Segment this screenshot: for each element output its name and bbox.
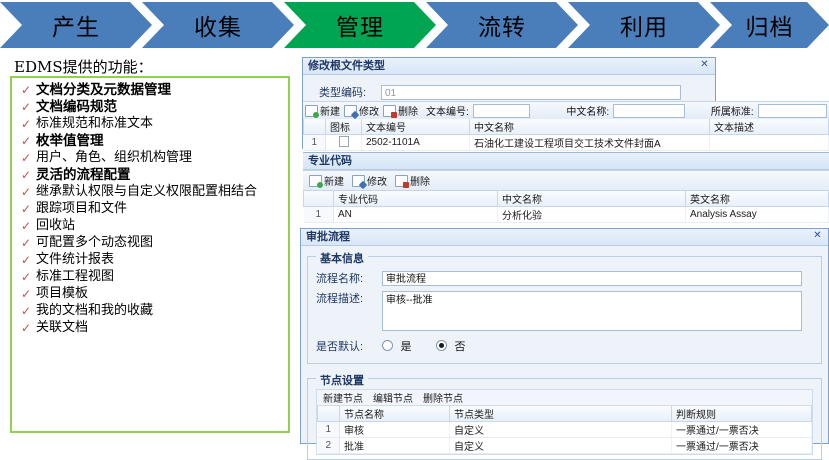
edit-icon xyxy=(352,175,365,187)
process-step-label: 管理 xyxy=(336,8,384,42)
edit-button-label: 修改 xyxy=(359,103,379,118)
check-icon: ✓ xyxy=(16,320,36,336)
section-title: 专业代码 xyxy=(303,152,829,170)
edit-icon xyxy=(344,105,357,117)
process-step-label: 流转 xyxy=(478,8,526,42)
screenshot-root: 产生 收集 管理 流转 利用 归档 EDMS提供的功能： ✓文档分类及元数据管理… xyxy=(0,0,829,444)
list-item-label: 文档编码规范 xyxy=(36,99,117,115)
process-step-shouji[interactable]: 收集 xyxy=(142,2,294,48)
close-icon[interactable]: ✕ xyxy=(811,230,824,242)
table-row[interactable]: 1 审核 自定义 一票通过/一票否决 xyxy=(318,422,812,438)
row-node-name: 审核 xyxy=(340,422,450,438)
process-step-guidang[interactable]: 归档 xyxy=(710,2,829,48)
window-title-bar[interactable]: 审批流程 ✕ xyxy=(301,229,828,246)
list-item: ✓回收站 xyxy=(16,218,286,234)
check-icon: ✓ xyxy=(16,218,36,234)
delete-button[interactable]: 删除 xyxy=(395,173,430,188)
close-icon[interactable]: ✕ xyxy=(698,59,711,71)
process-step-label: 利用 xyxy=(620,8,668,42)
flow-name-row: 流程名称: 审批流程 xyxy=(316,269,813,287)
col-major-code[interactable]: 专业代码 xyxy=(334,191,498,207)
radio-option-no[interactable]: 否 xyxy=(436,337,465,355)
new-button-label: 新建 xyxy=(320,103,340,118)
check-icon: ✓ xyxy=(16,252,36,268)
row-code: 2502-1101A xyxy=(362,135,470,151)
process-step-liyong[interactable]: 利用 xyxy=(568,2,720,48)
type-code-input[interactable]: 01 xyxy=(381,85,681,100)
node-grid-panel: 新建节点 编辑节点 删除节点 节点名称 节点类型 判断规则 xyxy=(316,389,813,455)
filter-name-label: 中文名称: xyxy=(566,103,609,118)
col-node-name[interactable]: 节点名称 xyxy=(340,406,450,422)
table-header-row: 专业代码 中文名称 英文名称 xyxy=(304,191,829,207)
process-chevron-bar: 产生 收集 管理 流转 利用 归档 xyxy=(0,2,829,48)
process-step-label: 收集 xyxy=(194,8,242,42)
type-code-row: 类型编码: 01 xyxy=(319,83,709,101)
new-node-button[interactable]: 新建节点 xyxy=(323,390,363,405)
list-item: ✓项目模板 xyxy=(16,286,286,302)
list-item-label: 我的文档和我的收藏 xyxy=(36,303,153,319)
file-type-toolbar: 新建 修改 删除 文本编号: 中文名称: 所属标准: xyxy=(303,101,829,120)
table-row[interactable]: 1 AN 分析化验 Analysis Assay xyxy=(304,207,829,223)
list-item: ✓枚举值管理 xyxy=(16,133,286,149)
process-step-liuzhuan[interactable]: 流转 xyxy=(426,2,578,48)
radio-icon-yes xyxy=(382,340,393,351)
list-item-label: 回收站 xyxy=(36,218,75,234)
row-node-rule: 一票通过/一票否决 xyxy=(672,438,812,454)
group-node-settings: 节点设置 新建节点 编辑节点 删除节点 节点名称 节点类型 判断规则 xyxy=(307,378,822,460)
check-icon: ✓ xyxy=(16,99,36,115)
row-major-code: AN xyxy=(334,207,498,223)
list-item-label: 可配置多个动态视图 xyxy=(36,235,153,251)
major-code-grid: 专业代码 中文名称 英文名称 1 AN 分析化验 Analysis Assay xyxy=(303,191,829,223)
group-basic-info: 基本信息 流程名称: 审批流程 流程描述: 审核--批准 是否默认: 是 否 xyxy=(307,256,822,364)
list-item-label: 文件统计报表 xyxy=(36,252,114,268)
window-body: 类型编码: 01 xyxy=(303,75,715,101)
table-row[interactable]: 2 批准 自定义 一票通过/一票否决 xyxy=(318,438,812,454)
list-item-label: 项目模板 xyxy=(36,286,88,302)
delete-button-label: 删除 xyxy=(398,103,418,118)
check-icon: ✓ xyxy=(16,269,36,285)
edit-button[interactable]: 修改 xyxy=(344,103,379,118)
window-title-text: 修改根文件类型 xyxy=(308,59,385,72)
node-toolbar: 新建节点 编辑节点 删除节点 xyxy=(317,390,812,406)
list-item: ✓跟踪项目和文件 xyxy=(16,201,286,217)
table-header-row: 节点名称 节点类型 判断规则 xyxy=(318,406,812,422)
row-en-name: Analysis Assay xyxy=(686,207,829,223)
check-icon: ✓ xyxy=(16,133,36,149)
row-cn-name: 石油化工建设工程项目交工技术文件封面A xyxy=(470,135,710,151)
check-icon: ✓ xyxy=(16,235,36,251)
row-desc xyxy=(710,135,829,151)
list-item: ✓关联文档 xyxy=(16,320,286,336)
list-item: ✓可配置多个动态视图 xyxy=(16,235,286,251)
row-cn-name: 分析化验 xyxy=(498,207,686,223)
list-item: ✓灵活的流程配置 xyxy=(16,167,286,183)
row-number: 1 xyxy=(304,135,326,151)
window-title-text: 审批流程 xyxy=(306,230,350,243)
row-node-name: 批准 xyxy=(340,438,450,454)
list-item: ✓文档分类及元数据管理 xyxy=(16,82,286,98)
row-number: 2 xyxy=(318,438,340,454)
node-grid: 节点名称 节点类型 判断规则 1 审核 自定义 一票通过/一票否决 xyxy=(317,406,812,454)
delete-button-label: 删除 xyxy=(410,173,430,188)
file-type-grid-wrap: 图标 文本编号 中文名称 文本描述 1 2502-1101A 石油化工建设工程项… xyxy=(303,119,829,151)
col-desc[interactable]: 文本描述 xyxy=(710,119,829,135)
edit-node-button[interactable]: 编辑节点 xyxy=(373,390,413,405)
flow-name-label: 流程名称: xyxy=(316,270,382,286)
group-legend: 基本信息 xyxy=(316,250,368,266)
check-icon: ✓ xyxy=(16,82,36,98)
check-icon: ✓ xyxy=(16,303,36,319)
flow-desc-textarea[interactable]: 审核--批准 xyxy=(382,291,802,331)
section-major-code: 专业代码 新建 修改 删除 专业代码 中文名称 英文名称 1 AN 分析化验 xyxy=(303,152,829,223)
list-item-label: 跟踪项目和文件 xyxy=(36,201,127,217)
process-step-label: 产生 xyxy=(52,8,100,42)
list-item: ✓标准规范和标准文本 xyxy=(16,116,286,132)
list-item-label: 关联文档 xyxy=(36,320,88,336)
check-icon: ✓ xyxy=(16,167,36,183)
filter-standard-label: 所属标准: xyxy=(711,103,754,118)
list-item-label: 标准规范和标准文本 xyxy=(36,116,153,132)
document-icon xyxy=(339,136,349,147)
list-item: ✓文件统计报表 xyxy=(16,252,286,268)
col-blank[interactable] xyxy=(304,191,334,207)
check-icon: ✓ xyxy=(16,116,36,132)
window-title-bar[interactable]: 修改根文件类型 ✕ xyxy=(303,58,715,75)
list-item-label: 枚举值管理 xyxy=(36,133,104,149)
radio-icon-no xyxy=(436,340,447,351)
left-panel-title: EDMS提供的功能： xyxy=(14,56,153,77)
process-step-guanli[interactable]: 管理 xyxy=(284,2,436,48)
delete-button[interactable]: 删除 xyxy=(383,103,418,118)
col-blank[interactable] xyxy=(304,119,326,135)
list-item-label: 用户、角色、组织机构管理 xyxy=(36,150,192,166)
delete-icon xyxy=(383,105,396,117)
row-node-type: 自定义 xyxy=(450,438,672,454)
radio-option-yes[interactable]: 是 xyxy=(382,337,436,355)
col-en-name[interactable]: 英文名称 xyxy=(686,191,829,207)
col-code[interactable]: 文本编号 xyxy=(362,119,470,135)
list-item: ✓继承默认权限与自定义权限配置相结合 xyxy=(16,184,286,200)
delete-node-button[interactable]: 删除节点 xyxy=(423,390,463,405)
flow-desc-label: 流程描述: xyxy=(316,291,382,307)
major-code-toolbar: 新建 修改 删除 xyxy=(303,170,829,191)
edit-button[interactable]: 修改 xyxy=(352,173,387,188)
new-icon xyxy=(305,105,318,117)
list-item: ✓标准工程视图 xyxy=(16,269,286,285)
row-node-type: 自定义 xyxy=(450,422,672,438)
col-node-type[interactable]: 节点类型 xyxy=(450,406,672,422)
col-icon[interactable]: 图标 xyxy=(326,119,362,135)
col-blank[interactable] xyxy=(318,406,340,422)
filter-standard-input[interactable] xyxy=(758,104,827,118)
check-icon: ✓ xyxy=(16,201,36,217)
window-approval-flow: 审批流程 ✕ 基本信息 流程名称: 审批流程 流程描述: 审核--批准 是否默认… xyxy=(300,228,829,444)
radio-label-yes: 是 xyxy=(400,341,411,353)
row-number: 1 xyxy=(304,207,334,223)
row-number: 1 xyxy=(318,422,340,438)
file-type-toolbar-row: 新建 修改 删除 文本编号: 中文名称: 所属标准: xyxy=(303,101,829,120)
filter-name-input[interactable] xyxy=(613,104,685,118)
filter-code-input[interactable] xyxy=(473,104,531,118)
check-icon: ✓ xyxy=(16,184,36,200)
row-icon-cell xyxy=(326,135,362,151)
table-row[interactable]: 1 2502-1101A 石油化工建设工程项目交工技术文件封面A xyxy=(304,135,829,151)
new-button[interactable]: 新建 xyxy=(305,103,340,118)
table-header-row: 图标 文本编号 中文名称 文本描述 xyxy=(304,119,829,135)
new-icon xyxy=(309,175,322,187)
flow-name-input[interactable]: 审批流程 xyxy=(382,271,802,286)
edit-button-label: 修改 xyxy=(367,173,387,188)
default-flag-row: 是否默认: 是 否 xyxy=(316,337,813,355)
delete-icon xyxy=(395,175,408,187)
row-node-rule: 一票通过/一票否决 xyxy=(672,422,812,438)
list-item: ✓文档编码规范 xyxy=(16,99,286,115)
process-step-chanshen[interactable]: 产生 xyxy=(0,2,152,48)
list-item-label: 文档分类及元数据管理 xyxy=(36,82,171,98)
new-button[interactable]: 新建 xyxy=(309,173,344,188)
col-cn-name[interactable]: 中文名称 xyxy=(498,191,686,207)
list-item-label: 灵活的流程配置 xyxy=(36,167,131,183)
flow-desc-row: 流程描述: 审核--批准 xyxy=(316,291,813,331)
check-icon: ✓ xyxy=(16,286,36,302)
feature-list-box: ✓文档分类及元数据管理 ✓文档编码规范 ✓标准规范和标准文本 ✓枚举值管理 ✓用… xyxy=(10,76,290,433)
default-flag-label: 是否默认: xyxy=(316,338,382,354)
col-cn-name[interactable]: 中文名称 xyxy=(470,119,710,135)
file-type-grid: 图标 文本编号 中文名称 文本描述 1 2502-1101A 石油化工建设工程项… xyxy=(303,119,829,151)
check-icon: ✓ xyxy=(16,150,36,166)
process-step-label: 归档 xyxy=(746,8,794,42)
type-code-label: 类型编码: xyxy=(319,84,381,100)
new-button-label: 新建 xyxy=(324,173,344,188)
list-item-label: 继承默认权限与自定义权限配置相结合 xyxy=(36,184,276,200)
list-item: ✓我的文档和我的收藏 xyxy=(16,303,286,319)
list-item: ✓用户、角色、组织机构管理 xyxy=(16,150,286,166)
group-legend: 节点设置 xyxy=(316,372,368,388)
col-node-rule[interactable]: 判断规则 xyxy=(672,406,812,422)
radio-label-no: 否 xyxy=(454,341,465,353)
filter-code-label: 文本编号: xyxy=(426,103,469,118)
list-item-label: 标准工程视图 xyxy=(36,269,114,285)
